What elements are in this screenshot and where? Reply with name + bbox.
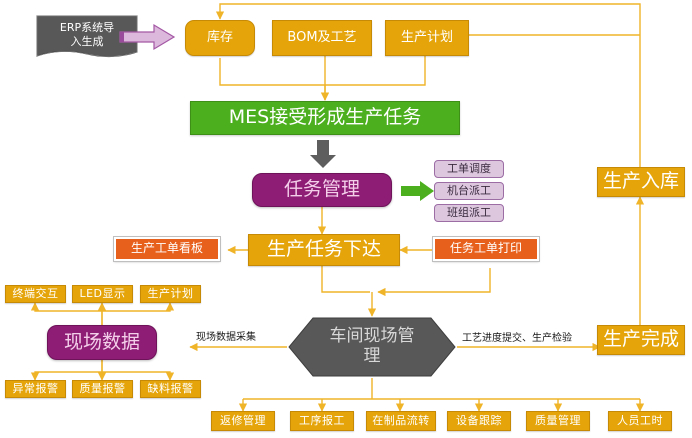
box-inventory[interactable]: 库存 bbox=[185, 20, 255, 56]
box-equipment-tracking-label: 设备跟踪 bbox=[456, 415, 502, 428]
gray-down-arrow-icon bbox=[308, 139, 338, 173]
workshop-line1: 车间现场管 bbox=[287, 326, 457, 346]
box-task-management-label: 任务管理 bbox=[284, 179, 360, 201]
flowchart-canvas: ERP系统导 入生成 库存 BOM及工艺 生产计划 MES接受形成生产任务 任务… bbox=[0, 0, 692, 438]
box-production-plan[interactable]: 生产计划 bbox=[385, 20, 469, 56]
box-machine-dispatch-label: 机台派工 bbox=[447, 185, 491, 198]
box-production-plan-terminal[interactable]: 生产计划 bbox=[140, 285, 201, 303]
box-bom[interactable]: BOM及工艺 bbox=[272, 20, 372, 56]
box-production-complete-label: 生产完成 bbox=[603, 329, 679, 351]
box-production-plan-terminal-label: 生产计划 bbox=[148, 288, 194, 301]
box-process-reporting-label: 工序报工 bbox=[299, 415, 345, 428]
box-terminal-interaction[interactable]: 终端交互 bbox=[5, 285, 66, 303]
box-exception-alarm-label: 异常报警 bbox=[13, 383, 59, 396]
erp-source-line1: ERP系统导 bbox=[35, 21, 139, 35]
box-team-dispatch-label: 班组派工 bbox=[447, 207, 491, 220]
erp-source-line2: 入生成 bbox=[35, 35, 139, 49]
box-process-reporting[interactable]: 工序报工 bbox=[290, 411, 354, 431]
box-task-release[interactable]: 生产任务下达 bbox=[248, 234, 400, 266]
box-work-order-print[interactable]: 任务工单打印 bbox=[433, 237, 539, 261]
box-led-display-label: LED显示 bbox=[79, 288, 125, 301]
workshop-line2: 理 bbox=[287, 346, 457, 366]
box-rework-mgmt[interactable]: 返修管理 bbox=[211, 411, 275, 431]
box-workshop-management[interactable]: 车间现场管 理 bbox=[287, 316, 457, 378]
box-site-data[interactable]: 现场数据 bbox=[47, 325, 157, 360]
box-task-release-label: 生产任务下达 bbox=[267, 239, 381, 261]
box-site-data-label: 现场数据 bbox=[64, 332, 140, 354]
box-workshop-management-label: 车间现场管 理 bbox=[287, 326, 457, 367]
box-quality-alarm[interactable]: 质量报警 bbox=[72, 380, 133, 398]
box-mes-accept-label: MES接受形成生产任务 bbox=[229, 107, 421, 129]
box-terminal-interaction-label: 终端交互 bbox=[13, 288, 59, 301]
box-production-plan-label: 生产计划 bbox=[401, 31, 453, 46]
edge-label-process-submit: 工艺进度提交、生产检验 bbox=[462, 329, 572, 344]
box-production-warehousing[interactable]: 生产入库 bbox=[597, 167, 685, 197]
box-exception-alarm[interactable]: 异常报警 bbox=[5, 380, 66, 398]
box-work-order-scheduling-label: 工单调度 bbox=[447, 163, 491, 176]
box-machine-dispatch[interactable]: 机台派工 bbox=[434, 182, 504, 200]
box-mes-accept[interactable]: MES接受形成生产任务 bbox=[190, 101, 460, 135]
box-wip-flow-label: 在制品流转 bbox=[372, 415, 430, 428]
box-team-dispatch[interactable]: 班组派工 bbox=[434, 204, 504, 222]
erp-source-label: ERP系统导 入生成 bbox=[35, 21, 139, 49]
box-quality-mgmt[interactable]: 质量管理 bbox=[526, 411, 590, 431]
box-production-warehousing-label: 生产入库 bbox=[603, 171, 679, 193]
box-quality-mgmt-label: 质量管理 bbox=[535, 415, 581, 428]
green-right-arrow-icon bbox=[400, 180, 436, 206]
box-labor-hours-label: 人员工时 bbox=[617, 415, 663, 428]
box-wip-flow[interactable]: 在制品流转 bbox=[366, 411, 436, 431]
box-production-kanban-label: 生产工单看板 bbox=[131, 242, 203, 256]
box-shortage-alarm[interactable]: 缺料报警 bbox=[140, 380, 201, 398]
box-labor-hours[interactable]: 人员工时 bbox=[608, 411, 672, 431]
box-rework-mgmt-label: 返修管理 bbox=[220, 415, 266, 428]
edge-label-data-collection: 现场数据采集 bbox=[196, 328, 256, 343]
box-task-management[interactable]: 任务管理 bbox=[252, 173, 392, 207]
box-work-order-scheduling[interactable]: 工单调度 bbox=[434, 160, 504, 178]
box-quality-alarm-label: 质量报警 bbox=[80, 383, 126, 396]
box-bom-label: BOM及工艺 bbox=[287, 31, 356, 46]
box-work-order-print-label: 任务工单打印 bbox=[450, 242, 522, 256]
box-production-complete[interactable]: 生产完成 bbox=[597, 325, 685, 355]
box-equipment-tracking[interactable]: 设备跟踪 bbox=[447, 411, 511, 431]
box-shortage-alarm-label: 缺料报警 bbox=[148, 383, 194, 396]
box-inventory-label: 库存 bbox=[207, 31, 233, 46]
box-led-display[interactable]: LED显示 bbox=[72, 285, 133, 303]
box-production-kanban[interactable]: 生产工单看板 bbox=[114, 237, 220, 261]
